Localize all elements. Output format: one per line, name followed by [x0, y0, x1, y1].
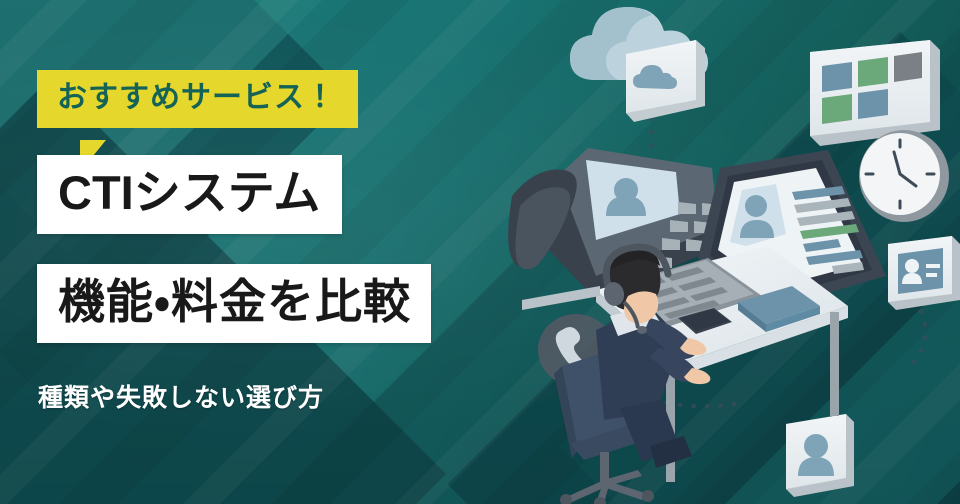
- banner-root: おすすめサービス！ CTIシステム 機能・料金を比較 種類や失敗しない選び方: [0, 0, 960, 504]
- grid-card: [810, 40, 940, 146]
- avatar-card: [786, 414, 854, 497]
- title-line-1: CTIシステム: [37, 155, 342, 234]
- cloud-card: [626, 40, 705, 122]
- illustration: [500, 0, 960, 504]
- recommendation-badge: おすすめサービス！: [37, 70, 358, 128]
- wall-clock: [859, 130, 949, 222]
- title-line-2: 機能・料金を比較: [37, 264, 431, 343]
- contact-card: [888, 236, 960, 310]
- subtitle: 種類や失敗しない選び方: [38, 378, 324, 414]
- copy-block: おすすめサービス！ CTIシステム 機能・料金を比較 種類や失敗しない選び方: [0, 0, 560, 504]
